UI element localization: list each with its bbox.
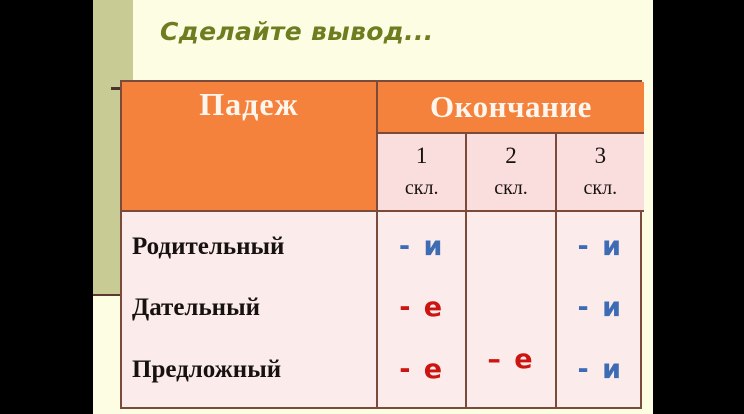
ending-cell: - и: [578, 355, 624, 385]
page-title: Сделайте вывод...: [160, 17, 434, 47]
subheader-number-3: 3: [595, 144, 607, 168]
subheader-cell-1: 1 скл.: [378, 134, 467, 210]
ending-cell: - и: [399, 232, 445, 262]
ending-cell: - е: [399, 355, 444, 385]
ending-column-2skl: – е: [467, 212, 556, 407]
ending-cell: - е: [399, 293, 444, 323]
ending-value-columns: - и - е - е – е - и - и - и: [378, 212, 644, 407]
subheader-cell-2: 2 скл.: [467, 134, 556, 210]
declension-endings-table: Падеж Окончание 1 скл. 2 скл. 3 скл.: [120, 80, 642, 409]
ending-cell: - и: [578, 232, 624, 262]
table-subheader-row: 1 скл. 2 скл. 3 скл.: [378, 134, 644, 212]
table-body: Родительный Дательный Предложный - и - е…: [122, 212, 640, 407]
subheader-number-1: 1: [416, 144, 428, 168]
ending-cell: – е: [487, 345, 534, 375]
ending-cell: - и: [578, 293, 624, 323]
subheader-word-2: скл.: [494, 176, 528, 200]
table-header: Падеж Окончание 1 скл. 2 скл. 3 скл.: [122, 82, 640, 212]
subheader-cell-3: 3 скл.: [557, 134, 644, 210]
header-cell-case: Падеж: [122, 82, 378, 212]
header-cell-ending: Окончание: [378, 82, 644, 134]
subheader-word-3: скл.: [584, 176, 618, 200]
table-row: Родительный: [132, 233, 376, 261]
case-name-column: Родительный Дательный Предложный: [122, 212, 378, 407]
table-row: Дательный: [132, 294, 376, 322]
table-row: Предложный: [132, 356, 376, 384]
header-cell-ending-label: Окончание: [430, 89, 592, 125]
subheader-word-1: скл.: [405, 176, 439, 200]
slide-bottom-strip: [93, 409, 653, 414]
subheader-number-2: 2: [505, 144, 517, 168]
ending-column-3skl: - и - и - и: [557, 212, 644, 407]
ending-column-1skl: - и - е - е: [378, 212, 467, 407]
slide-root: Сделайте вывод... Падеж Окончание 1 скл.…: [0, 0, 744, 414]
header-cell-case-label: Падеж: [199, 86, 298, 123]
